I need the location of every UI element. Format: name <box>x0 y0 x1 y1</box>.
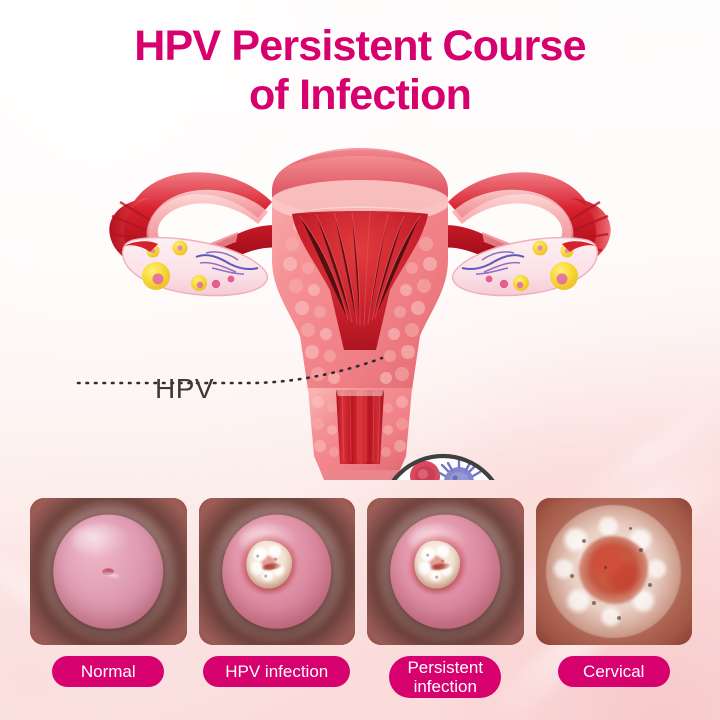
lesion-speck <box>435 575 438 578</box>
cervix-dome <box>222 514 332 629</box>
hpv-callout-label: HPV <box>155 373 214 405</box>
page-title: HPV Persistent Course of Infection <box>0 22 720 120</box>
cervix-photo-hpv-infection[interactable] <box>199 498 356 645</box>
cervix-photo-normal[interactable] <box>30 498 187 645</box>
stage-label-persistent-infection[interactable]: Persistentinfection <box>389 656 501 698</box>
caption-cell-4: Cervical <box>536 656 693 696</box>
dome-highlight <box>71 523 128 557</box>
persistent-line-2: infection <box>414 677 477 696</box>
title-line-1: HPV Persistent Course <box>0 22 720 71</box>
tissue-speck <box>592 601 596 605</box>
cervix-dome <box>53 514 163 629</box>
persistent-wart-lesion <box>415 541 461 589</box>
necrotic-center <box>579 536 648 604</box>
uterus-body <box>264 146 456 390</box>
lesion-speck <box>441 560 444 563</box>
lesion-speck <box>275 558 278 561</box>
cervix <box>308 388 412 480</box>
stage-caption-row: Normal HPV infection Persistentinfection… <box>30 656 692 696</box>
persistent-line-1: Persistent <box>407 658 483 677</box>
hpv-wart-lesion <box>246 541 292 589</box>
stage-label-normal[interactable]: Normal <box>52 656 164 687</box>
caption-cell-3: Persistentinfection <box>367 656 524 696</box>
cervix-dome <box>390 514 500 629</box>
caption-cell-1: Normal <box>30 656 187 696</box>
uterus-illustration <box>0 140 720 480</box>
hpv-infographic: HPV Persistent Course of Infection <box>0 0 720 720</box>
stage-label-hpv-infection[interactable]: HPV infection <box>203 656 350 687</box>
tissue-speck <box>617 616 621 620</box>
stage-panel-strip <box>30 498 692 645</box>
cervix-photo-persistent-infection[interactable] <box>367 498 524 645</box>
cervix-photo-cervical-cancer[interactable] <box>536 498 693 645</box>
title-line-2: of Infection <box>0 71 720 120</box>
tissue-speck <box>639 548 643 552</box>
caption-cell-2: HPV infection <box>199 656 356 696</box>
stage-label-cervical[interactable]: Cervical <box>558 656 670 687</box>
